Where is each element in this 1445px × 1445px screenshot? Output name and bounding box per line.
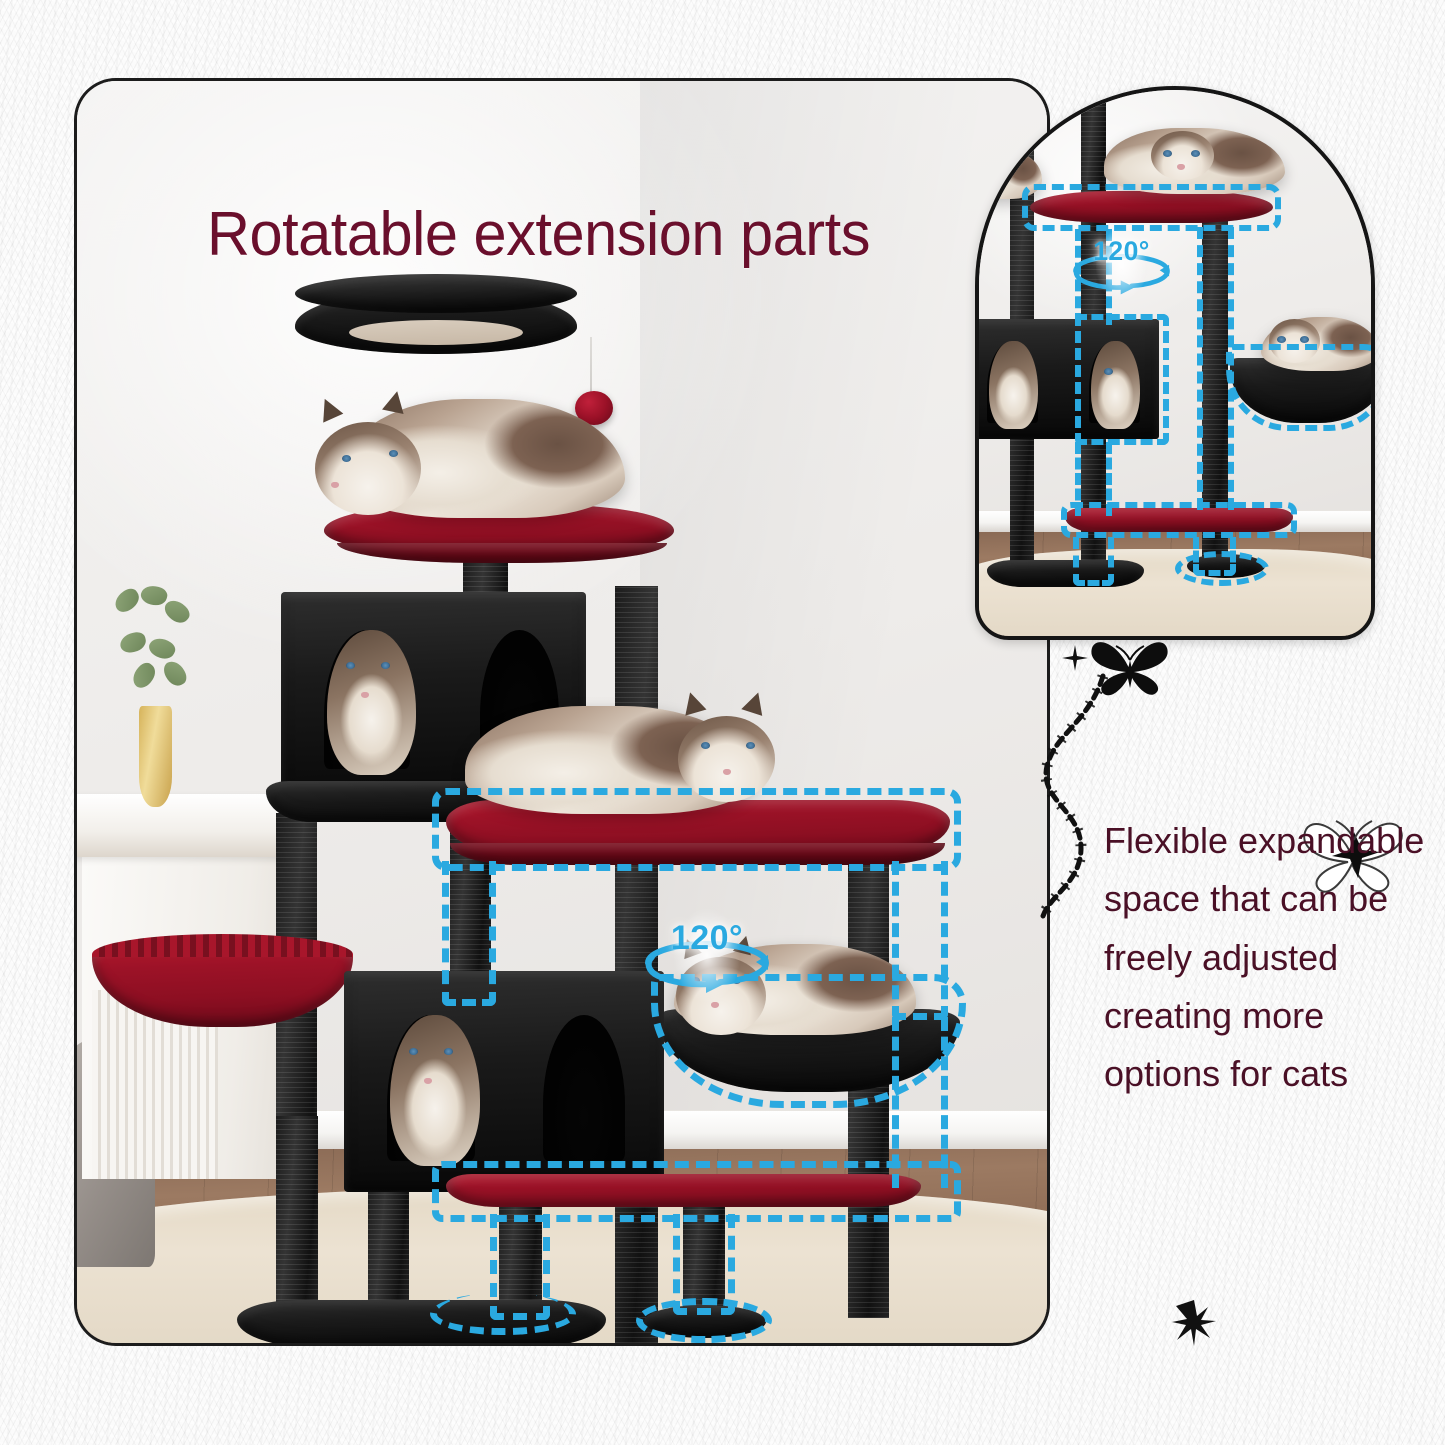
cat-top-platform-ear-right: [382, 389, 408, 414]
inset-bottom-shelf: [1065, 508, 1292, 532]
cat-top-platform-ear-left: [314, 394, 343, 422]
inset-base-right: [1187, 554, 1265, 578]
feature-caption: Flexible expandable space that can be fr…: [1104, 812, 1434, 1104]
inset-cat-condo-b: [1091, 341, 1140, 428]
inset-cat-top-head: [1151, 131, 1214, 180]
mid-platform-edge: [450, 843, 945, 864]
inset-top-platform: [1030, 191, 1273, 223]
cat-tree: [77, 81, 1047, 1343]
post-base-bottom-right: [644, 1305, 765, 1338]
inset-closeup-panel: 120°: [975, 86, 1375, 640]
inset-cat-condo-a: [989, 341, 1038, 428]
page-title: Rotatable extension parts: [207, 199, 870, 270]
inset-cat-top-eye-right: [1191, 150, 1200, 157]
cat-upper-condo-nose: [361, 692, 369, 698]
bottom-shelf: [446, 1174, 921, 1207]
inset-cat-tree: [979, 90, 1371, 636]
cat-mid-platform-nose: [723, 769, 731, 775]
upper-platform-edge: [337, 543, 667, 563]
cat-mid-platform-ear-left: [680, 689, 707, 715]
cat-black-hammock-head: [676, 957, 765, 1035]
cat-black-hammock-eye-left: [691, 977, 700, 984]
inset-cat-top-nose: [1177, 164, 1185, 170]
post-tall-center: [615, 586, 658, 1346]
cat-lower-condo-eye-right: [444, 1048, 453, 1055]
inset-cat-hammock-eye-left: [1277, 336, 1286, 343]
top-bed-rim: [295, 274, 576, 313]
cat-black-hammock-ear-left: [679, 936, 703, 959]
cat-mid-platform-ear-right: [742, 689, 769, 716]
cat-lower-condo-eye-left: [409, 1048, 418, 1055]
inset-base-main: [987, 560, 1144, 587]
cat-top-platform-eye-left: [342, 455, 351, 462]
tree-base: [237, 1300, 606, 1346]
post-left-lower: [276, 1116, 318, 1331]
pom-pom-string: [590, 337, 592, 395]
top-bed-cushion: [349, 320, 524, 345]
cat-lower-condo: [390, 1015, 479, 1166]
cat-upper-condo-eye-left: [346, 662, 355, 669]
cat-mid-platform-head: [678, 716, 775, 802]
main-product-panel: 120° Rotatable extension parts: [74, 78, 1050, 1346]
cat-top-platform-head: [315, 422, 422, 515]
cat-upper-condo-eye-right: [381, 662, 390, 669]
cat-top-platform-eye-right: [389, 450, 398, 457]
cat-black-hammock-eye-right: [732, 977, 741, 984]
